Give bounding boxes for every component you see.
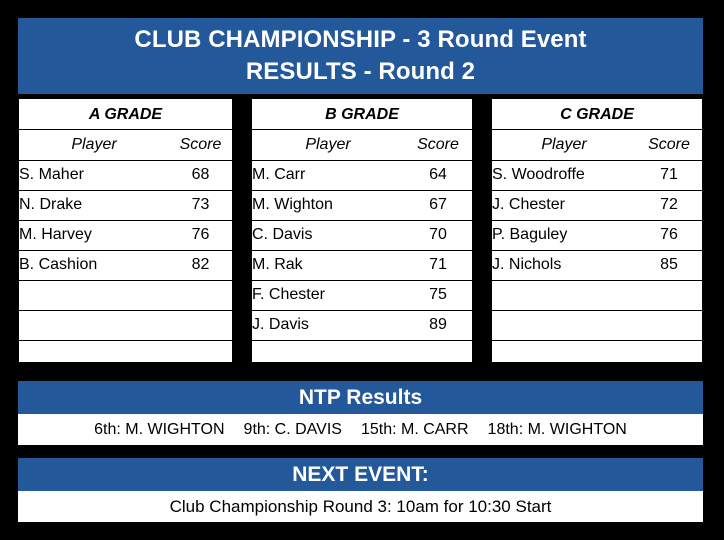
cell-player: M. Carr bbox=[252, 160, 404, 190]
cell-score: 76 bbox=[169, 220, 232, 250]
table-header-row: Player Score bbox=[252, 130, 472, 160]
grade-table-c: C GRADE Player Score S. Woodroffe71J. Ch… bbox=[491, 98, 703, 363]
cell-player: J. Nichols bbox=[492, 250, 636, 280]
cell-player: M. Harvey bbox=[19, 220, 169, 250]
cell-score: 85 bbox=[636, 250, 702, 280]
table-row: J. Davis89 bbox=[252, 310, 472, 340]
next-event-banner: NEXT EVENT: bbox=[18, 458, 703, 491]
cell-score-empty bbox=[636, 280, 702, 310]
cell-player-empty bbox=[19, 310, 169, 340]
ntp-entry: 9th: C. DAVIS bbox=[244, 421, 342, 439]
table-row: M. Rak71 bbox=[252, 250, 472, 280]
table-header-row: Player Score bbox=[492, 130, 702, 160]
cell-player: C. Davis bbox=[252, 220, 404, 250]
cell-player: J. Davis bbox=[252, 310, 404, 340]
ntp-entry: 6th: M. WIGHTON bbox=[94, 421, 224, 439]
table-row: S. Woodroffe71 bbox=[492, 160, 702, 190]
grade-title-b: B GRADE bbox=[252, 99, 472, 130]
table-row: S. Maher68 bbox=[19, 160, 232, 190]
cell-score-empty bbox=[404, 340, 472, 370]
cell-player-empty bbox=[19, 340, 169, 370]
cell-player-empty bbox=[19, 280, 169, 310]
ntp-entry-list: 6th: M. WIGHTON9th: C. DAVIS15th: M. CAR… bbox=[94, 421, 627, 439]
cell-score: 70 bbox=[404, 220, 472, 250]
cell-score-empty bbox=[636, 340, 702, 370]
table-body-a: Player Score S. Maher68N. Drake73M. Harv… bbox=[19, 130, 232, 370]
table-row-empty bbox=[19, 310, 232, 340]
results-table-a: Player Score S. Maher68N. Drake73M. Harv… bbox=[19, 130, 232, 370]
table-row: M. Wighton67 bbox=[252, 190, 472, 220]
cell-player: F. Chester bbox=[252, 280, 404, 310]
cell-score: 67 bbox=[404, 190, 472, 220]
grade-title-c: C GRADE bbox=[492, 99, 702, 130]
cell-player: M. Wighton bbox=[252, 190, 404, 220]
table-row: N. Drake73 bbox=[19, 190, 232, 220]
table-row: M. Harvey76 bbox=[19, 220, 232, 250]
table-row-empty bbox=[492, 340, 702, 370]
column-header-score: Score bbox=[169, 130, 232, 160]
cell-player-empty bbox=[492, 340, 636, 370]
title-line-1: CLUB CHAMPIONSHIP - 3 Round Event bbox=[134, 24, 586, 56]
table-row-empty bbox=[19, 340, 232, 370]
cell-score: 75 bbox=[404, 280, 472, 310]
cell-score: 71 bbox=[636, 160, 702, 190]
grade-table-a: A GRADE Player Score S. Maher68N. Drake7… bbox=[18, 98, 233, 363]
cell-player: S. Maher bbox=[19, 160, 169, 190]
column-header-player: Player bbox=[492, 130, 636, 160]
cell-score: 71 bbox=[404, 250, 472, 280]
results-table-c: Player Score S. Woodroffe71J. Chester72P… bbox=[492, 130, 702, 370]
results-poster: CLUB CHAMPIONSHIP - 3 Round Event RESULT… bbox=[0, 0, 724, 540]
grade-table-b: B GRADE Player Score M. Carr64M. Wighton… bbox=[251, 98, 473, 363]
table-header-row: Player Score bbox=[19, 130, 232, 160]
next-event-detail: Club Championship Round 3: 10am for 10:3… bbox=[170, 497, 552, 517]
title-banner: CLUB CHAMPIONSHIP - 3 Round Event RESULT… bbox=[18, 18, 703, 94]
table-row: J. Chester72 bbox=[492, 190, 702, 220]
table-body-b: Player Score M. Carr64M. Wighton67C. Dav… bbox=[252, 130, 472, 370]
next-event-body: Club Championship Round 3: 10am for 10:3… bbox=[18, 491, 703, 522]
cell-score: 68 bbox=[169, 160, 232, 190]
table-row: B. Cashion82 bbox=[19, 250, 232, 280]
table-row: F. Chester75 bbox=[252, 280, 472, 310]
table-row: P. Baguley76 bbox=[492, 220, 702, 250]
table-row-empty bbox=[492, 310, 702, 340]
cell-score: 73 bbox=[169, 190, 232, 220]
cell-score-empty bbox=[169, 340, 232, 370]
column-header-player: Player bbox=[19, 130, 169, 160]
cell-player: P. Baguley bbox=[492, 220, 636, 250]
ntp-body: 6th: M. WIGHTON9th: C. DAVIS15th: M. CAR… bbox=[18, 414, 703, 445]
cell-player: J. Chester bbox=[492, 190, 636, 220]
grade-tables-row: A GRADE Player Score S. Maher68N. Drake7… bbox=[18, 98, 703, 363]
grade-title-a: A GRADE bbox=[19, 99, 232, 130]
results-table-b: Player Score M. Carr64M. Wighton67C. Dav… bbox=[252, 130, 472, 370]
column-header-score: Score bbox=[636, 130, 702, 160]
table-row: J. Nichols85 bbox=[492, 250, 702, 280]
table-row-empty bbox=[492, 280, 702, 310]
cell-score-empty bbox=[636, 310, 702, 340]
ntp-heading: NTP Results bbox=[299, 386, 422, 410]
table-row-empty bbox=[19, 280, 232, 310]
table-row-empty bbox=[252, 340, 472, 370]
cell-score: 76 bbox=[636, 220, 702, 250]
ntp-banner: NTP Results bbox=[18, 381, 703, 414]
cell-score: 89 bbox=[404, 310, 472, 340]
next-event-heading: NEXT EVENT: bbox=[292, 463, 429, 487]
cell-score: 72 bbox=[636, 190, 702, 220]
title-line-2: RESULTS - Round 2 bbox=[246, 56, 475, 88]
table-body-c: Player Score S. Woodroffe71J. Chester72P… bbox=[492, 130, 702, 370]
ntp-entry: 18th: M. WIGHTON bbox=[488, 421, 627, 439]
cell-score: 64 bbox=[404, 160, 472, 190]
cell-player: B. Cashion bbox=[19, 250, 169, 280]
column-header-player: Player bbox=[252, 130, 404, 160]
cell-score-empty bbox=[169, 280, 232, 310]
table-row: C. Davis70 bbox=[252, 220, 472, 250]
cell-player: S. Woodroffe bbox=[492, 160, 636, 190]
cell-player-empty bbox=[492, 280, 636, 310]
cell-player-empty bbox=[492, 310, 636, 340]
table-row: M. Carr64 bbox=[252, 160, 472, 190]
ntp-entry: 15th: M. CARR bbox=[361, 421, 469, 439]
cell-score-empty bbox=[169, 310, 232, 340]
cell-player: M. Rak bbox=[252, 250, 404, 280]
cell-score: 82 bbox=[169, 250, 232, 280]
cell-player-empty bbox=[252, 340, 404, 370]
cell-player: N. Drake bbox=[19, 190, 169, 220]
column-header-score: Score bbox=[404, 130, 472, 160]
